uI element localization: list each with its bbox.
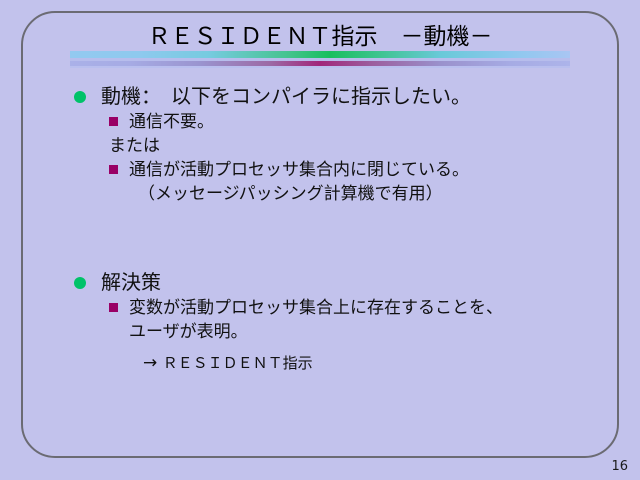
blue-green-gradient-bar [70, 51, 570, 58]
bullet-level1-motivation: 動機： 以下をコンパイラに指示したい。 [0, 82, 640, 110]
bullet-level2-no-communication: 通信不要。 [0, 110, 640, 134]
slide-canvas: ＲＥＳＩＤＥＮＴ指示 －動機－ 動機： 以下をコンパイラに指示したい。 通信不要… [0, 0, 640, 480]
bullet-level2-communication-closed: 通信が活動プロセッサ集合内に閉じている。 [0, 158, 640, 182]
bullet-level2-label: 通信が活動プロセッサ集合内に閉じている。 [129, 158, 469, 182]
arrow-conclusion-label: ＲＥＳＩＤＥＮＴ指示 [163, 354, 313, 372]
bullet-level1-solution: 解決策 [0, 268, 640, 296]
page-number: 16 [611, 459, 628, 475]
bullet-level1-label: 解決策 [101, 268, 161, 296]
content-block-motivation: 動機： 以下をコンパイラに指示したい。 通信不要。 または 通信が活動プロセッサ… [0, 82, 640, 206]
magenta-square-bullet [109, 303, 118, 312]
note-message-passing: （メッセージパッシング計算機で有用） [0, 182, 640, 206]
slide-title: ＲＥＳＩＤＥＮＴ指示 －動機－ [0, 24, 640, 50]
magenta-square-bullet [109, 117, 118, 126]
bullet-level1-label: 動機： 以下をコンパイラに指示したい。 [101, 82, 471, 110]
right-arrow-icon: → [143, 353, 157, 373]
bullet-level2-label: 変数が活動プロセッサ集合上に存在することを、 [129, 296, 503, 320]
bar-tail-spacer [70, 66, 570, 68]
green-circle-bullet [74, 91, 86, 103]
title-decoration-bars [70, 51, 570, 68]
bullet-level2-continuation: ユーザが表明。 [0, 320, 640, 344]
slide-body: 動機： 以下をコンパイラに指示したい。 通信不要。 または 通信が活動プロセッサ… [0, 82, 640, 452]
green-circle-bullet [74, 277, 86, 289]
content-block-solution: 解決策 変数が活動プロセッサ集合上に存在することを、 ユーザが表明。 → ＲＥＳ… [0, 268, 640, 376]
bullet-level2-label: 通信不要。 [129, 110, 214, 134]
magenta-square-bullet [109, 165, 118, 174]
bullet-level2-variable-exists: 変数が活動プロセッサ集合上に存在することを、 [0, 296, 640, 320]
connector-or-text: または [0, 134, 640, 158]
arrow-conclusion-line: → ＲＥＳＩＤＥＮＴ指示 [0, 350, 640, 376]
block-spacer [0, 206, 640, 268]
